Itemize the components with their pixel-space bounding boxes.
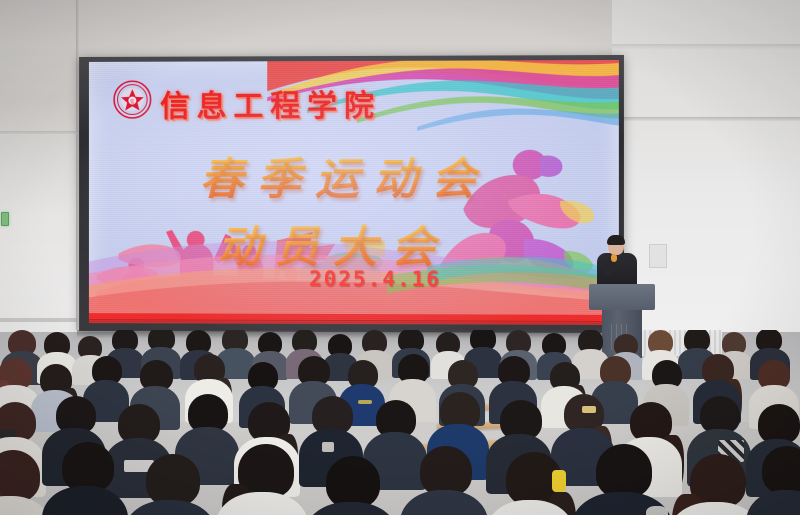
audience-crowd: [0, 330, 800, 515]
exit-sign: [1, 212, 9, 226]
university-emblem-icon: 信: [113, 80, 153, 120]
svg-text:信: 信: [130, 98, 135, 105]
auditorium-photo: 信 信息工程学院 春季运动会 动员大会 2025.4.16: [0, 0, 800, 515]
wall-trim-right-lower: [612, 117, 800, 121]
organization-title: 信息工程学院: [160, 81, 381, 125]
jacket-logo: [646, 506, 668, 515]
podium-top: [589, 284, 655, 310]
led-screen-bezel: 信 信息工程学院 春季运动会 动员大会 2025.4.16: [79, 55, 624, 333]
microphone-icon: [611, 254, 617, 262]
hair-clip: [582, 406, 596, 413]
led-screen: 信 信息工程学院 春季运动会 动员大会 2025.4.16: [89, 60, 619, 325]
wall-control-panel: [649, 244, 667, 268]
speaker-hair: [607, 235, 625, 245]
wall-trim-right-upper: [612, 44, 800, 49]
event-date: 2025.4.16: [309, 267, 441, 291]
hair-clip: [552, 470, 566, 492]
event-title-line1: 春季运动会: [200, 143, 490, 207]
event-title-line2: 动员大会: [218, 211, 450, 275]
wall-trim-left-lower: [0, 318, 78, 322]
